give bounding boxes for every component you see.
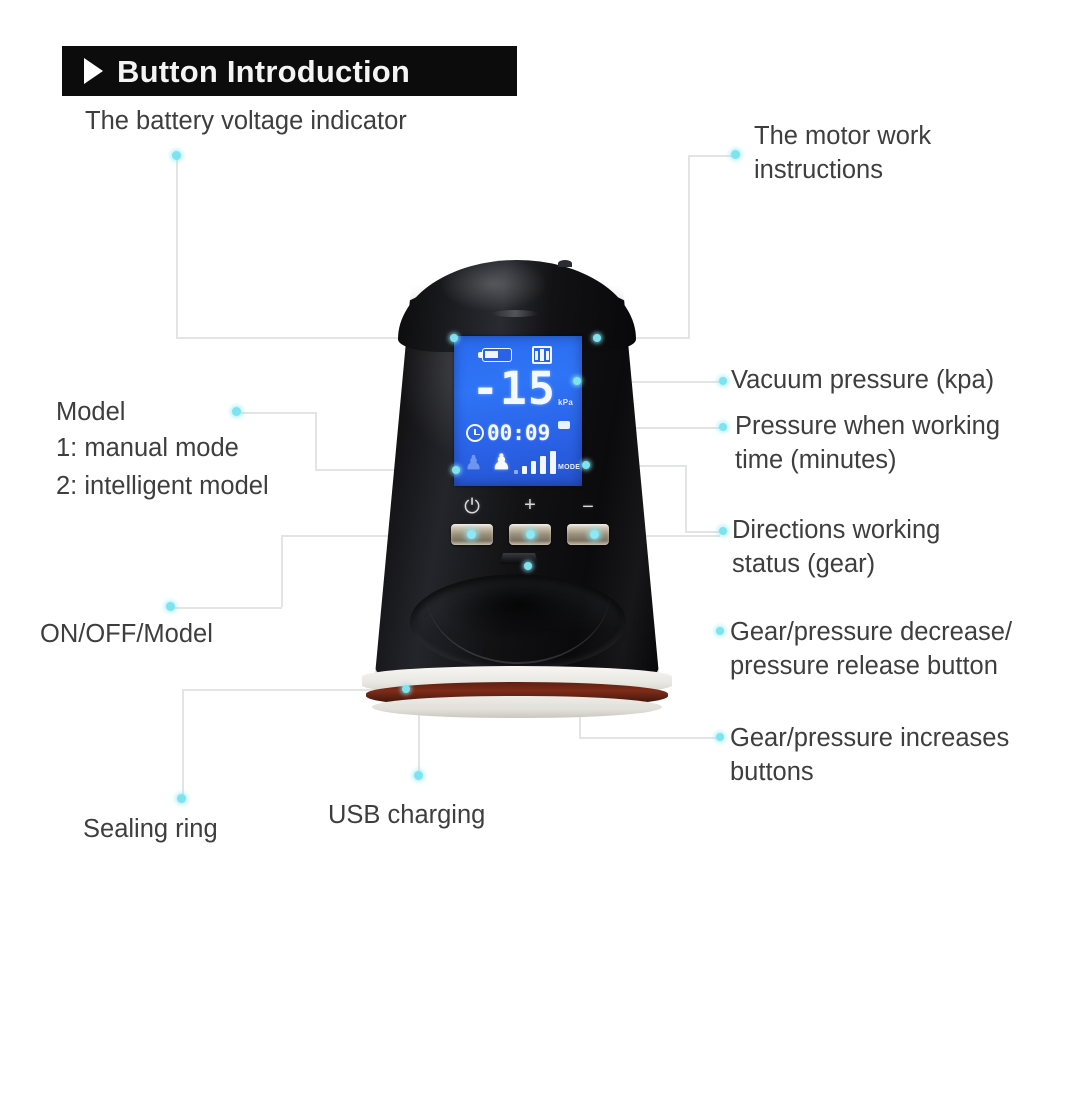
label-vacuum-pressure: Vacuum pressure (kpa) xyxy=(731,364,994,398)
dot-lcd-mode-marker xyxy=(452,466,460,474)
label-motor-instructions: The motor work instructions xyxy=(754,120,931,188)
gear-level-bars xyxy=(514,452,562,476)
motor-bar-left xyxy=(535,351,538,360)
connector-onoff-lead xyxy=(174,607,282,609)
dot-vacuum-pressure xyxy=(719,377,727,385)
dot-device-usb-marker xyxy=(524,562,532,570)
mode-tag-label: MODE xyxy=(558,464,580,471)
minus-symbol-icon: − xyxy=(573,497,603,517)
lcd-mode-row: ♟ ♟ MODE xyxy=(454,450,582,482)
dot-motor-instructions xyxy=(731,150,740,159)
timer-value: 00:09 xyxy=(487,420,550,446)
vacuum-pump-device: -15 kPa 00:09 ♟ ♟ MODE xyxy=(352,258,682,720)
lcd-timer-row: 00:09 xyxy=(454,420,582,448)
connector-sealing-vertical xyxy=(182,690,184,800)
dot-battery-indicator xyxy=(172,151,181,160)
label-increase-button: Gear/pressure increases buttons xyxy=(730,722,1009,790)
dot-lcd-motor-marker xyxy=(593,334,601,342)
connector-battery-vertical xyxy=(176,158,178,338)
decrease-button-led xyxy=(590,530,599,539)
timer-unit-icon xyxy=(558,421,570,429)
battery-level-icon xyxy=(482,348,512,362)
page-title-banner: Button Introduction xyxy=(62,46,517,96)
motor-bar-mid xyxy=(540,349,543,361)
user-mode-1-icon: ♟ xyxy=(465,454,482,473)
dot-lcd-gear-marker xyxy=(582,461,590,469)
power-button-led xyxy=(467,530,476,539)
connector-motor-lead xyxy=(688,155,736,157)
plus-symbol-icon: + xyxy=(515,495,545,515)
dot-device-sealing-marker xyxy=(402,685,410,693)
increase-button-led xyxy=(526,530,535,539)
connector-gear-vertical xyxy=(685,465,687,532)
dot-decrease-button xyxy=(716,627,724,635)
pressure-value: -15 xyxy=(470,364,556,414)
connector-model-vertical xyxy=(315,412,317,470)
power-button[interactable] xyxy=(451,524,493,545)
dot-usb-charging xyxy=(414,771,423,780)
connector-onoff-vertical xyxy=(281,536,283,607)
dot-working-time xyxy=(719,423,727,431)
dot-on-off-model xyxy=(166,602,175,611)
usb-charging-port xyxy=(500,553,538,564)
clock-icon xyxy=(466,424,484,442)
increase-button[interactable] xyxy=(509,524,551,545)
connector-increase-h2 xyxy=(579,737,719,739)
pressure-unit-label: kPa xyxy=(558,398,573,407)
gear-bar-0 xyxy=(514,470,518,474)
label-usb-charging: USB charging xyxy=(328,799,485,833)
diagram-canvas: Button Introduction xyxy=(0,0,1080,1097)
gear-bar-2 xyxy=(531,461,536,474)
decrease-button[interactable] xyxy=(567,524,609,545)
gear-bar-3 xyxy=(540,456,546,474)
label-model-line2: 2: intelligent model xyxy=(56,470,269,504)
dome-highlight xyxy=(492,310,538,317)
lcd-display: -15 kPa 00:09 ♟ ♟ MODE xyxy=(454,336,582,486)
label-battery-indicator: The battery voltage indicator xyxy=(85,105,407,139)
page-title: Button Introduction xyxy=(117,56,410,87)
gear-bar-4 xyxy=(550,451,556,474)
connector-model-lead xyxy=(240,412,316,414)
base-rim xyxy=(372,696,662,718)
dot-model xyxy=(232,407,241,416)
dot-sealing-ring xyxy=(177,794,186,803)
label-sealing-ring: Sealing ring xyxy=(83,813,218,847)
lcd-pressure-row: -15 kPa xyxy=(454,366,582,418)
power-symbol-icon: ⏻ xyxy=(457,497,487,517)
air-vent-nub xyxy=(558,260,572,267)
dot-gear-status xyxy=(719,527,727,535)
motor-bar-right xyxy=(546,351,549,360)
gear-bar-1 xyxy=(522,466,527,474)
label-gear-status: Directions working status (gear) xyxy=(732,514,940,582)
connector-gear-horizontal xyxy=(685,531,722,533)
dot-lcd-pressure-marker xyxy=(573,377,581,385)
play-triangle-icon xyxy=(84,58,103,84)
label-working-time: Pressure when working time (minutes) xyxy=(735,410,1000,478)
label-on-off-model: ON/OFF/Model xyxy=(40,618,213,652)
label-model-line1: 1: manual mode xyxy=(56,432,239,466)
dot-increase-button xyxy=(716,733,724,741)
label-decrease-button: Gear/pressure decrease/ pressure release… xyxy=(730,616,1012,684)
label-model-title: Model xyxy=(56,396,125,430)
dot-lcd-battery-marker xyxy=(450,334,458,342)
user-mode-2-icon: ♟ xyxy=(492,452,511,473)
connector-motor-vertical xyxy=(688,155,690,338)
